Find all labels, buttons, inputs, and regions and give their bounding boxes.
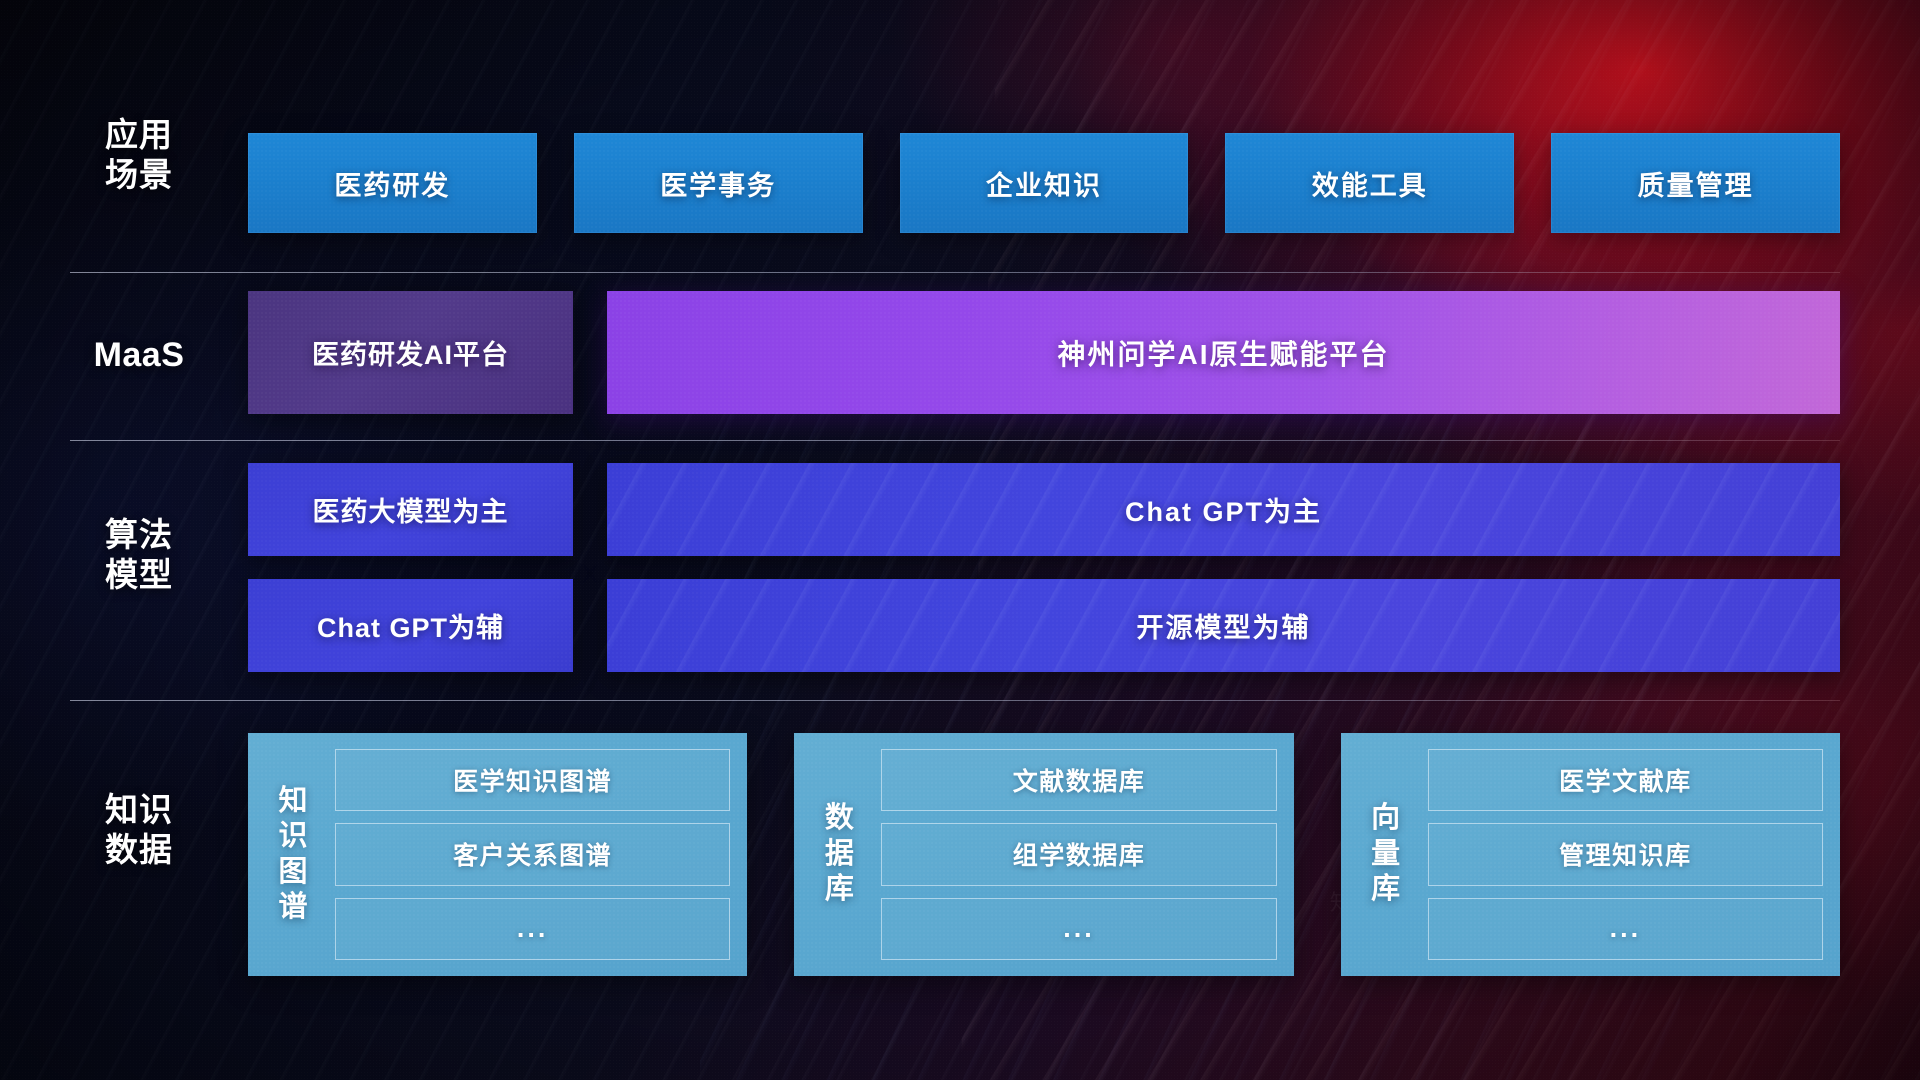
knowledge-item-list-database: 文献数据库 组学数据库 ... [881,749,1276,960]
knowledge-panel-title-vector-store: 向 量 库 [1358,749,1414,960]
scenario-label-efficiency-tools: 效能工具 [1312,164,1428,203]
algorithm-row-secondary: Chat GPT为辅 开源模型为辅 [248,579,1840,672]
row-label-knowledge-line2: 数据 [74,830,204,870]
knowledge-item-medical-knowledge-graph[interactable]: 医学知识图谱 [335,749,730,811]
row-label-algorithm: 算法 模型 [74,515,204,596]
knowledge-item-more-database[interactable]: ... [881,898,1276,960]
maas-label-pharma-ai-platform: 医药研发AI平台 [312,333,509,372]
scenario-label-pharma-rd: 医药研发 [334,164,450,203]
scenario-label-enterprise-knowledge: 企业知识 [986,164,1102,203]
row-label-scenario: 应用 场景 [74,115,204,196]
algorithm-box-pharma-llm-primary[interactable]: 医药大模型为主 [248,463,573,556]
scenario-label-quality-management: 质量管理 [1638,164,1754,203]
knowledge-item-customer-relation-graph[interactable]: 客户关系图谱 [335,823,730,885]
algorithm-label-pharma-llm-primary: 医药大模型为主 [313,490,509,529]
row-label-knowledge-line1: 知识 [74,790,204,830]
row-label-scenario-line2: 场景 [74,155,204,195]
knowledge-item-list-knowledge-graph: 医学知识图谱 客户关系图谱 ... [335,749,730,960]
scenario-label-medical-affairs: 医学事务 [660,164,776,203]
scenario-box-enterprise-knowledge[interactable]: 企业知识 [900,133,1189,233]
algorithm-label-opensource-secondary: 开源模型为辅 [1137,606,1311,645]
scenario-box-quality-management[interactable]: 质量管理 [1551,133,1840,233]
divider-algorithm-knowledge [70,700,1840,701]
knowledge-panel-title-knowledge-graph: 知 识 图 谱 [265,749,321,960]
maas-box-shenzhou-wenxue-platform[interactable]: 神州问学AI原生赋能平台 [607,291,1840,414]
knowledge-panel-knowledge-graph[interactable]: 知 识 图 谱 医学知识图谱 客户关系图谱 ... [248,733,747,976]
row-label-algorithm-line2: 模型 [74,555,204,595]
knowledge-title-char: 数 [825,801,854,836]
maas-box-pharma-ai-platform[interactable]: 医药研发AI平台 [248,291,573,414]
row-label-algorithm-line1: 算法 [74,515,204,555]
knowledge-title-char: 据 [825,837,854,872]
knowledge-item-medical-literature-store[interactable]: 医学文献库 [1428,749,1823,811]
knowledge-panel-title-database: 数 据 库 [811,749,867,960]
algorithm-label-chatgpt-primary: Chat GPT为主 [1125,490,1322,529]
maas-label-shenzhou-wenxue-platform: 神州问学AI原生赋能平台 [1057,333,1389,373]
knowledge-item-omics-database[interactable]: 组学数据库 [881,823,1276,885]
slide-canvas: 知乎日报 应用 场景 医药研发 医学事务 企业知识 效能工具 质量管理 [0,0,1920,1080]
knowledge-panel-database[interactable]: 数 据 库 文献数据库 组学数据库 ... [794,733,1293,976]
knowledge-title-char: 库 [825,872,854,907]
row-label-maas-text: MaaS [74,335,204,376]
divider-scenario-maas [70,272,1840,273]
scenario-box-efficiency-tools[interactable]: 效能工具 [1225,133,1514,233]
knowledge-panel-vector-store[interactable]: 向 量 库 医学文献库 管理知识库 ... [1341,733,1840,976]
knowledge-title-char: 量 [1371,837,1400,872]
algorithm-label-chatgpt-secondary: Chat GPT为辅 [317,606,504,645]
maas-box-row: 医药研发AI平台 神州问学AI原生赋能平台 [248,291,1840,414]
row-label-maas: MaaS [74,335,204,376]
scenario-box-pharma-rd[interactable]: 医药研发 [248,133,537,233]
algorithm-box-chatgpt-secondary[interactable]: Chat GPT为辅 [248,579,573,672]
algorithm-row-primary: 医药大模型为主 Chat GPT为主 [248,463,1840,556]
algorithm-box-chatgpt-primary[interactable]: Chat GPT为主 [607,463,1840,556]
knowledge-title-char: 向 [1371,801,1400,836]
knowledge-title-char: 知 [278,784,307,819]
scenario-box-medical-affairs[interactable]: 医学事务 [574,133,863,233]
knowledge-item-more-knowledge-graph[interactable]: ... [335,898,730,960]
knowledge-panel-row: 知 识 图 谱 医学知识图谱 客户关系图谱 ... 数 据 库 [248,733,1840,976]
knowledge-title-char: 识 [278,819,307,854]
knowledge-item-list-vector-store: 医学文献库 管理知识库 ... [1428,749,1823,960]
knowledge-item-more-vector-store[interactable]: ... [1428,898,1823,960]
algorithm-box-opensource-secondary[interactable]: 开源模型为辅 [607,579,1840,672]
knowledge-item-management-knowledge-store[interactable]: 管理知识库 [1428,823,1823,885]
row-label-scenario-line1: 应用 [74,115,204,155]
scenario-box-row: 医药研发 医学事务 企业知识 效能工具 质量管理 [248,133,1840,233]
knowledge-item-literature-database[interactable]: 文献数据库 [881,749,1276,811]
knowledge-title-char: 谱 [278,890,307,925]
divider-maas-algorithm [70,440,1840,441]
knowledge-title-char: 库 [1371,872,1400,907]
knowledge-title-char: 图 [278,855,307,890]
row-label-knowledge: 知识 数据 [74,790,204,871]
